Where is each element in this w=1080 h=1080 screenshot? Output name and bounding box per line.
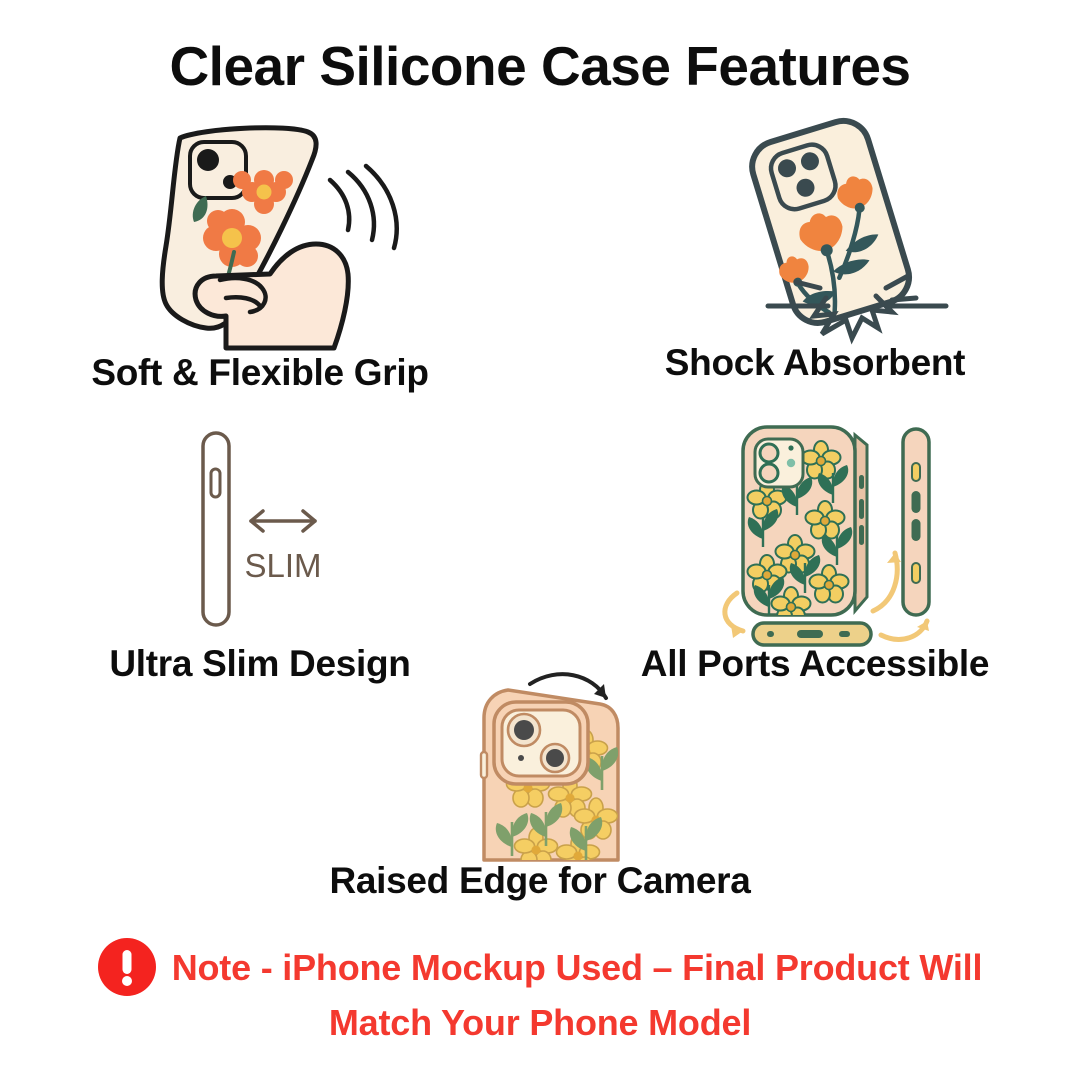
page-title: Clear Silicone Case Features — [0, 34, 1080, 98]
feature-raised-edge-for-camera: Raised Edge for Camera — [300, 660, 780, 910]
feature-label-soft-flexible-grip: Soft & Flexible Grip — [30, 352, 490, 394]
note-text-line-2: Match Your Phone Model — [329, 1002, 751, 1044]
slim-measure-label: SLIM — [244, 547, 321, 584]
feature-soft-flexible-grip: Soft & Flexible Grip — [30, 120, 490, 410]
feature-shock-absorbent: Shock Absorbent — [600, 120, 1030, 410]
phone-side-profile-slim-icon: SLIM — [185, 425, 385, 635]
phone-ports-cutouts-icon — [705, 415, 955, 655]
note-banner: Note - iPhone Mockup Used – Final Produc… — [0, 938, 1080, 1044]
infographic-page: Clear Silicone Case Features — [0, 0, 1080, 1080]
feature-label-shock-absorbent: Shock Absorbent — [600, 342, 1030, 384]
phone-impact-burst-icon — [710, 120, 970, 340]
phone-raised-camera-bump-icon — [450, 660, 650, 860]
feature-label-raised-edge-for-camera: Raised Edge for Camera — [300, 860, 780, 902]
hand-holding-flexing-phone-icon — [30, 120, 490, 350]
note-line-1: Note - iPhone Mockup Used – Final Produc… — [98, 938, 983, 996]
exclamation-circle-icon — [98, 938, 156, 996]
note-text-line-1: Note - iPhone Mockup Used – Final Produc… — [172, 945, 983, 990]
